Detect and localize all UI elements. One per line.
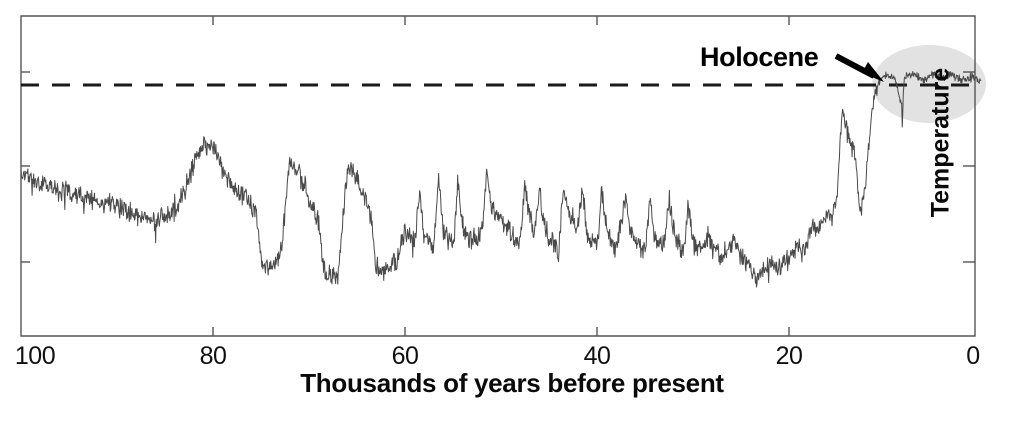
- x-axis-title: Thousands of years before present: [0, 368, 1024, 399]
- y-axis-title: Temperature: [927, 48, 956, 238]
- x-tick-label-80: 80: [200, 342, 227, 371]
- holocene-annotation-label: Holocene: [700, 42, 818, 73]
- x-tick-label-0: 0: [966, 342, 979, 371]
- temperature-proxy-line: [21, 72, 981, 288]
- x-tick-label-100: 100: [15, 342, 55, 371]
- x-tick-label-20: 20: [776, 342, 803, 371]
- axis-ticks: [21, 16, 975, 336]
- ice-core-temperature-figure: 100806040200 Thousands of years before p…: [0, 0, 1024, 424]
- plot-frame: [21, 16, 975, 336]
- chart-canvas: [0, 0, 1024, 424]
- x-tick-label-60: 60: [392, 342, 419, 371]
- x-tick-label-40: 40: [584, 342, 611, 371]
